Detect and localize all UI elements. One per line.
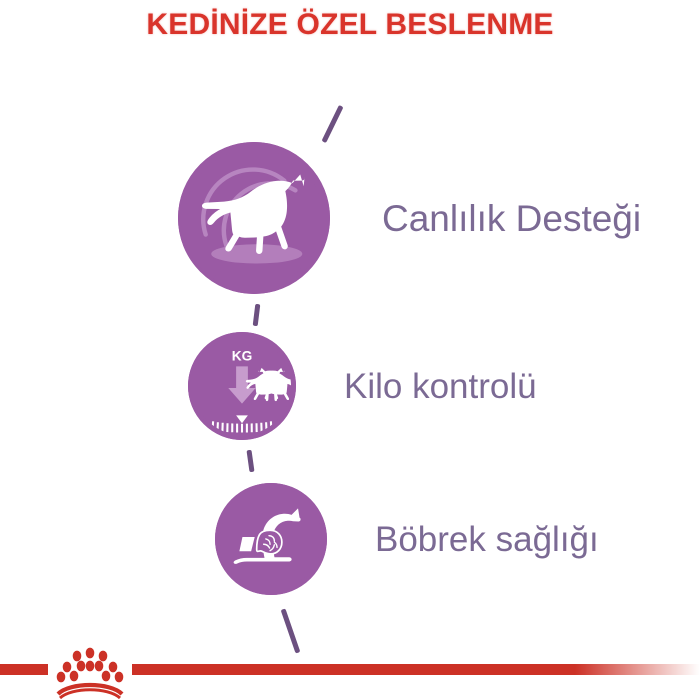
infographic-page: KEDİNİZE ÖZEL BESLENME bbox=[0, 0, 700, 700]
feature-label-kidney: Böbrek sağlığı bbox=[375, 522, 599, 557]
feature-row-vitality: Canlılık Desteği bbox=[178, 142, 641, 294]
feature-label-vitality: Canlılık Desteği bbox=[382, 200, 641, 237]
footer-bar-left bbox=[0, 664, 48, 675]
cat-kidney-icon bbox=[220, 488, 322, 590]
royal-canin-crown-logo bbox=[50, 646, 130, 700]
badge-vitality bbox=[178, 142, 330, 294]
svg-text:KG: KG bbox=[232, 349, 253, 364]
feature-row-weight: KG bbox=[188, 332, 537, 440]
running-cat-icon bbox=[185, 149, 323, 287]
footer-bar-right bbox=[132, 664, 700, 675]
connector-dash-2-3 bbox=[246, 450, 254, 472]
cat-on-weight-scale-icon: KG bbox=[193, 337, 291, 435]
feature-label-weight: Kilo kontrolü bbox=[344, 369, 537, 404]
badge-kidney bbox=[215, 483, 327, 595]
footer bbox=[0, 620, 700, 700]
badge-weight: KG bbox=[188, 332, 296, 440]
connector-dash-1-2 bbox=[253, 304, 261, 326]
page-title: KEDİNİZE ÖZEL BESLENME bbox=[0, 8, 700, 42]
connector-dash-top bbox=[321, 105, 343, 143]
feature-row-kidney: Böbrek sağlığı bbox=[215, 483, 599, 595]
